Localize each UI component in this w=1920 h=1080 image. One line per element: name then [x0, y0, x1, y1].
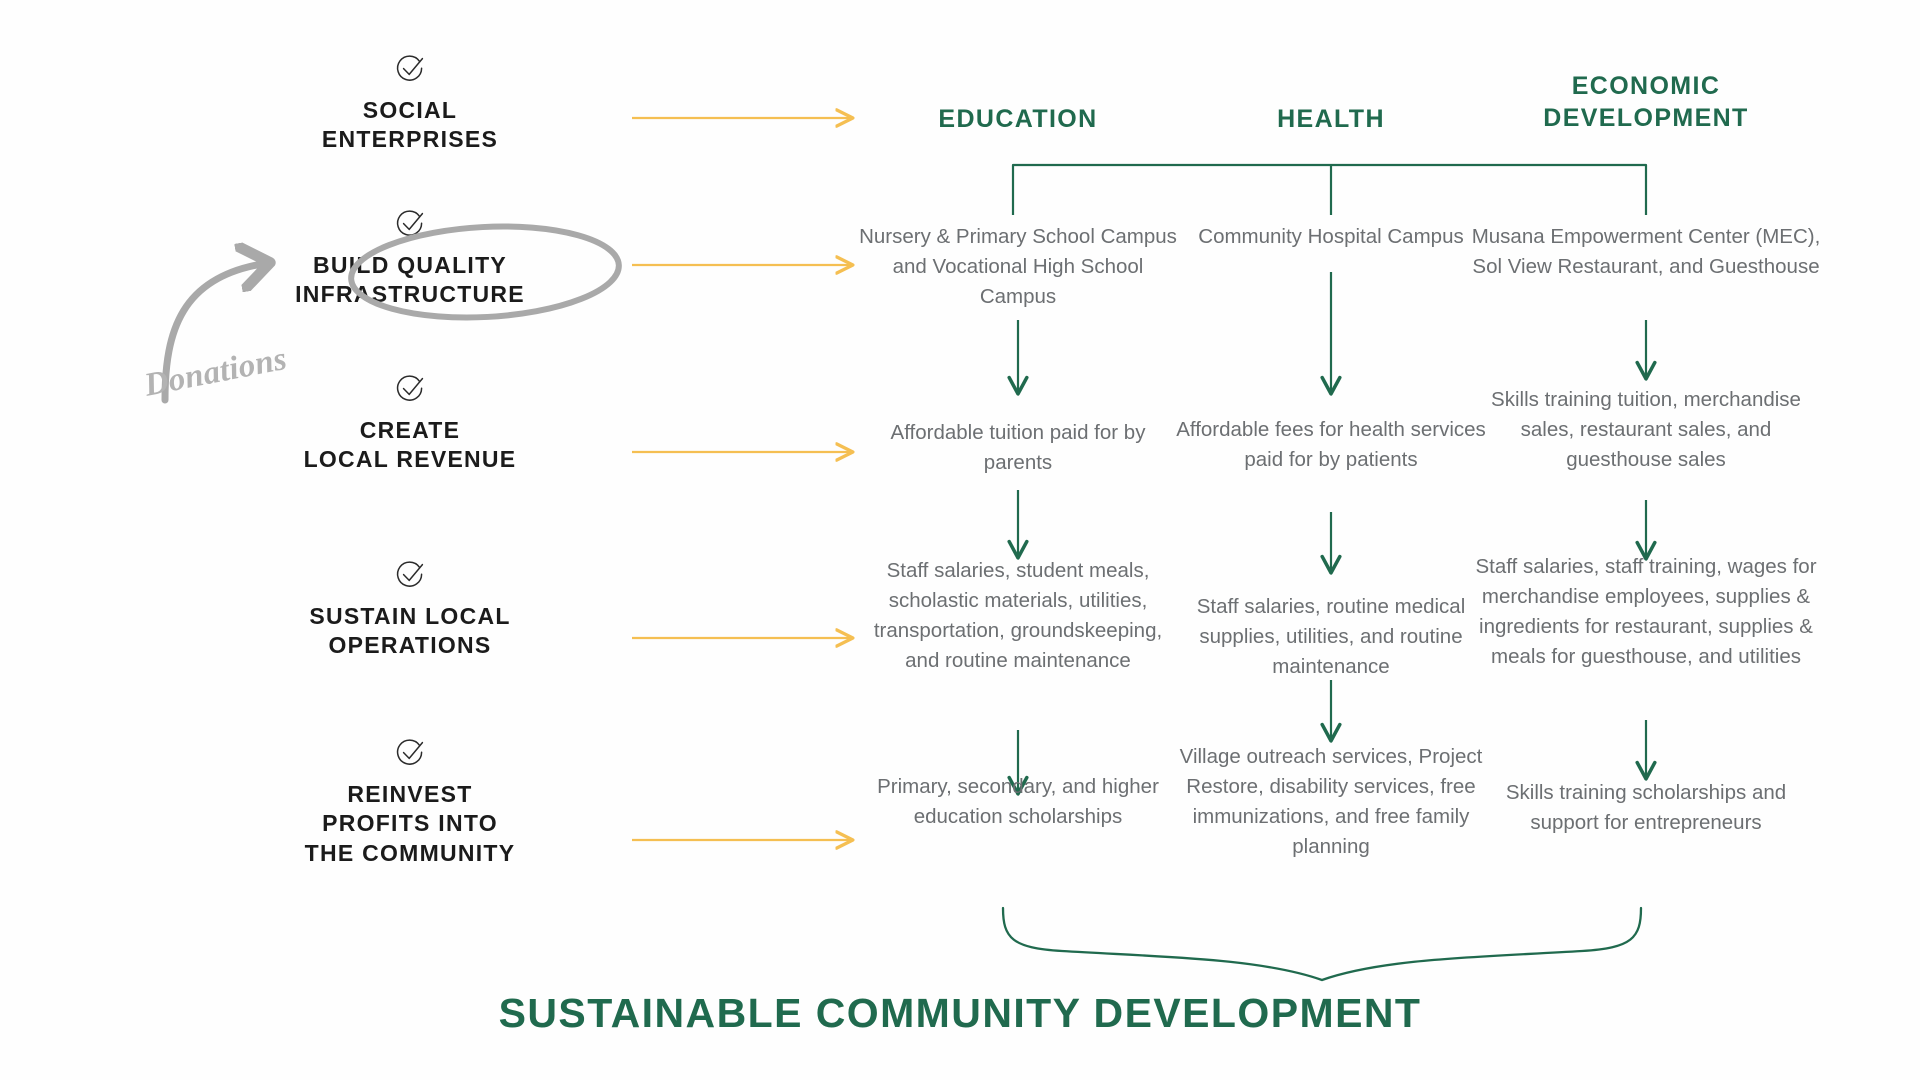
check-circle-icon: [393, 52, 427, 86]
stage-row-build-quality-infrastructure[interactable]: BUILD QUALITY INFRASTRUCTURE: [200, 207, 620, 310]
cell-econ-1: Musana Empowerment Center (MEC), Sol Vie…: [1471, 222, 1821, 282]
connector-layer: [0, 0, 1920, 1080]
column-header-economic-development[interactable]: ECONOMIC DEVELOPMENT: [1476, 70, 1816, 134]
cell-econ-4: Skills training scholarships and support…: [1471, 778, 1821, 838]
stage-row-create-local-revenue[interactable]: CREATE LOCAL REVENUE: [200, 372, 620, 475]
cell-education-2: Affordable tuition paid for by parents: [858, 418, 1178, 478]
stage-row-sustain-local-operations[interactable]: SUSTAIN LOCAL OPERATIONS: [200, 558, 620, 661]
stage-label: SOCIAL ENTERPRISES: [200, 96, 620, 155]
page-title: SUSTAINABLE COMMUNITY DEVELOPMENT: [0, 990, 1920, 1037]
cell-health-4: Village outreach services, Project Resto…: [1176, 742, 1486, 863]
check-circle-icon: [393, 736, 427, 770]
stage-row-reinvest-profits[interactable]: REINVEST PROFITS INTO THE COMMUNITY: [200, 736, 620, 868]
stage-row-social-enterprises[interactable]: SOCIAL ENTERPRISES: [200, 52, 620, 155]
stage-label: REINVEST PROFITS INTO THE COMMUNITY: [200, 780, 620, 868]
column-header-education[interactable]: EDUCATION: [858, 103, 1178, 135]
check-circle-icon: [393, 558, 427, 592]
cell-health-3: Staff salaries, routine medical supplies…: [1176, 592, 1486, 682]
check-circle-icon: [393, 207, 427, 241]
cell-econ-3: Staff salaries, staff training, wages fo…: [1471, 552, 1821, 673]
cell-education-1: Nursery & Primary School Campus and Voca…: [858, 222, 1178, 312]
cell-education-4: Primary, secondary, and higher education…: [858, 772, 1178, 832]
diagram-canvas: SOCIAL ENTERPRISES BUILD QUALITY INFRAST…: [0, 0, 1920, 1080]
gold-arrow-group: [632, 118, 852, 840]
top-bracket: [1013, 165, 1646, 215]
cell-education-3: Staff salaries, student meals, scholasti…: [858, 556, 1178, 677]
bottom-brace: [1003, 908, 1641, 980]
cell-health-1: Community Hospital Campus: [1176, 222, 1486, 252]
stage-label: CREATE LOCAL REVENUE: [200, 416, 620, 475]
column-header-health[interactable]: HEALTH: [1171, 103, 1491, 135]
stage-label: BUILD QUALITY INFRASTRUCTURE: [200, 251, 620, 310]
stage-label: SUSTAIN LOCAL OPERATIONS: [200, 602, 620, 661]
check-circle-icon: [393, 372, 427, 406]
cell-econ-2: Skills training tuition, merchandise sal…: [1471, 385, 1821, 475]
cell-health-2: Affordable fees for health services paid…: [1176, 415, 1486, 475]
